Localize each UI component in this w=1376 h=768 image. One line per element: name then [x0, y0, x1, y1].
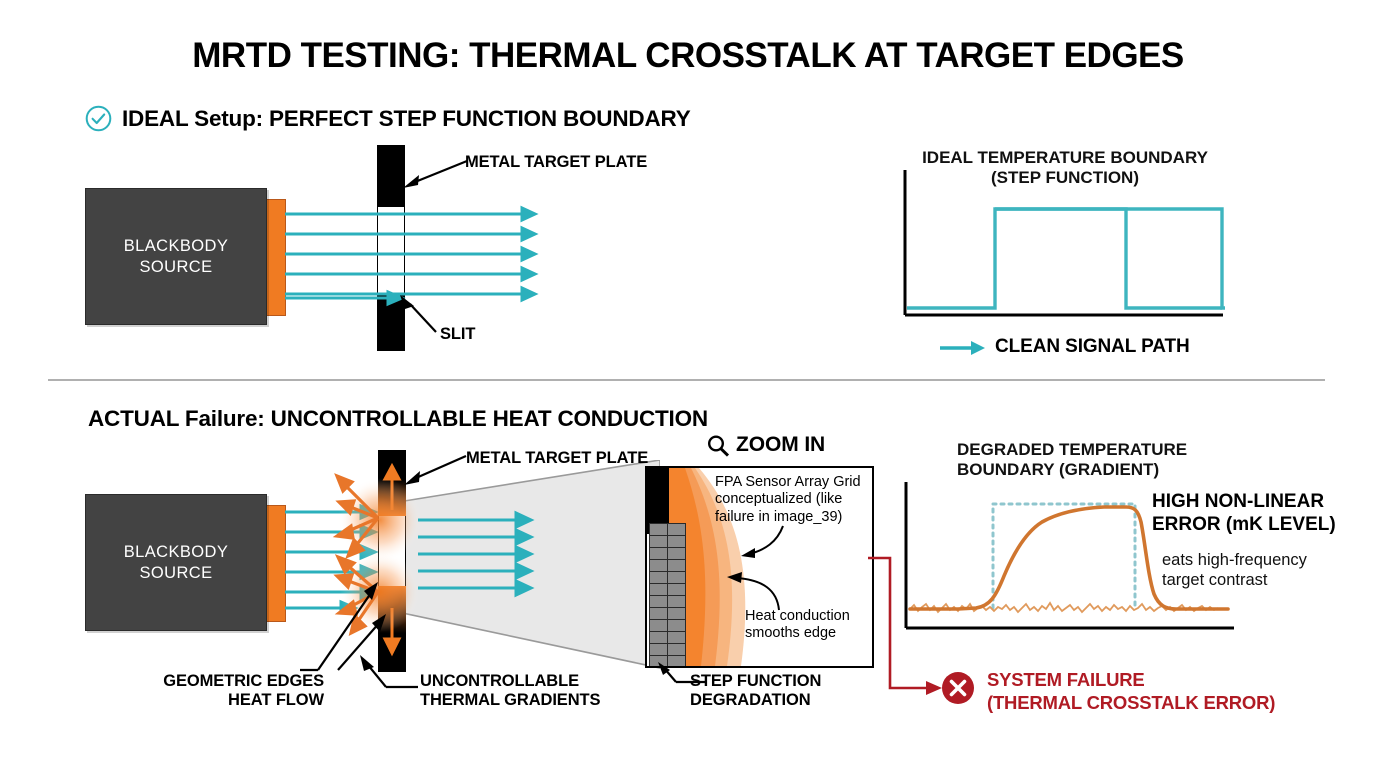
ideal-ray-short: [285, 286, 410, 310]
blackbody-source-actual: BLACKBODY SOURCE: [85, 494, 267, 631]
blackbody-source-actual-line2: SOURCE: [124, 563, 228, 583]
label-eats-high-frequency: eats high-frequency target contrast: [1162, 550, 1307, 591]
note-fpa-line3: failure in image_39): [715, 509, 861, 526]
note-fpa-arrow: [739, 524, 787, 560]
note-heat-arrow: [725, 570, 785, 612]
error-line1: HIGH NON-LINEAR: [1152, 490, 1336, 513]
label-thermal-gradients-line1: UNCONTROLLABLE: [420, 672, 600, 691]
section-divider: [48, 379, 1325, 381]
blackbody-source-label-line1: BLACKBODY: [124, 236, 228, 256]
zoom-in-label: ZOOM IN: [736, 433, 825, 458]
note-fpa-line2: conceptualized (like: [715, 491, 861, 508]
section-heading-actual: ACTUAL Failure: UNCONTROLLABLE HEAT COND…: [88, 406, 708, 432]
label-degradation-line2: DEGRADATION: [690, 691, 821, 710]
label-geometric-edges-heat-flow: GEOMETRIC EDGES HEAT FLOW: [148, 672, 324, 711]
failure-line2: (THERMAL CROSSTALK ERROR): [987, 691, 1275, 714]
label-thermal-gradients-line2: THERMAL GRADIENTS: [420, 691, 600, 710]
chart-title-degraded-line2: BOUNDARY (GRADIENT): [957, 460, 1297, 480]
system-failure-label: SYSTEM FAILURE (THERMAL CROSSTALK ERROR): [987, 668, 1275, 714]
zoom-callout-box: FPA Sensor Array Grid conceptualized (li…: [645, 466, 874, 668]
blackbody-source-label-line2: SOURCE: [124, 257, 228, 277]
magnifier-icon: [706, 434, 730, 458]
label-metal-target-plate-actual: METAL TARGET PLATE: [466, 449, 648, 468]
actual-ray-group-cone: [418, 510, 548, 620]
label-degradation-line1: STEP FUNCTION: [690, 672, 821, 691]
failure-line1: SYSTEM FAILURE: [987, 668, 1275, 691]
blackbody-source-ideal: BLACKBODY SOURCE: [85, 188, 267, 325]
error-line2: ERROR (mK LEVEL): [1152, 513, 1336, 536]
sub-line1: eats high-frequency: [1162, 550, 1307, 570]
note-fpa-sensor-array: FPA Sensor Array Grid conceptualized (li…: [715, 474, 861, 526]
note-heat-line2: smooths edge: [745, 625, 850, 642]
leader-metal-plate-actual: [396, 452, 474, 490]
x-circle-icon: [941, 671, 975, 705]
chart-title-degraded: DEGRADED TEMPERATURE BOUNDARY (GRADIENT): [957, 440, 1297, 481]
chart-title-degraded-line1: DEGRADED TEMPERATURE: [957, 440, 1297, 460]
label-geometric-edges-line1: GEOMETRIC EDGES: [148, 672, 324, 691]
blackbody-source-actual-line1: BLACKBODY: [124, 542, 228, 562]
label-metal-target-plate-ideal: METAL TARGET PLATE: [465, 153, 647, 172]
note-fpa-line1: FPA Sensor Array Grid: [715, 474, 861, 491]
check-circle-icon: [85, 105, 112, 132]
label-geometric-edges-line2: HEAT FLOW: [148, 691, 324, 710]
legend-clean-signal-path: CLEAN SIGNAL PATH: [995, 336, 1190, 358]
label-slit-ideal: SLIT: [440, 325, 475, 344]
chart-ideal-step: [895, 165, 1225, 330]
arrow-right-icon-clean-signal: [940, 338, 986, 358]
label-uncontrollable-thermal-gradients: UNCONTROLLABLE THERMAL GRADIENTS: [420, 672, 600, 711]
sub-line2: target contrast: [1162, 570, 1307, 590]
fpa-sensor-array-grid: [647, 523, 687, 668]
section-heading-ideal: IDEAL Setup: PERFECT STEP FUNCTION BOUND…: [122, 106, 691, 132]
leader-metal-plate-ideal: [395, 155, 475, 195]
label-step-function-degradation: STEP FUNCTION DEGRADATION: [690, 672, 821, 711]
diagram-canvas: MRTD TESTING: THERMAL CROSSTALK AT TARGE…: [0, 0, 1376, 768]
label-high-nonlinear-error: HIGH NON-LINEAR ERROR (mK LEVEL): [1152, 490, 1336, 536]
note-heat-conduction: Heat conduction smooths edge: [745, 608, 850, 643]
page-title: MRTD TESTING: THERMAL CROSSTALK AT TARGE…: [0, 36, 1376, 76]
